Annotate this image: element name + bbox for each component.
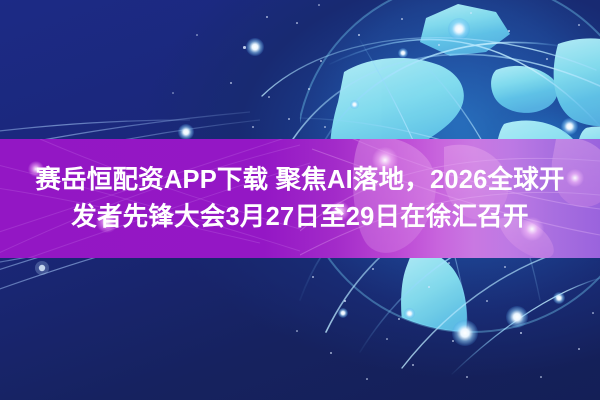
band-glow-dot [28,161,44,177]
band-globe-overlay [0,139,600,258]
band-glow-dot [566,169,584,187]
band-glow-dot [520,217,544,241]
band-glow-dot [330,201,350,221]
band-glow-dot [372,147,398,173]
band-glow-dot [96,211,118,233]
headline-band [0,139,600,258]
banner-image: 赛岳恒配资APP下载 聚焦AI落地，2026全球开 发者先锋大会3月27日至29… [0,0,600,400]
